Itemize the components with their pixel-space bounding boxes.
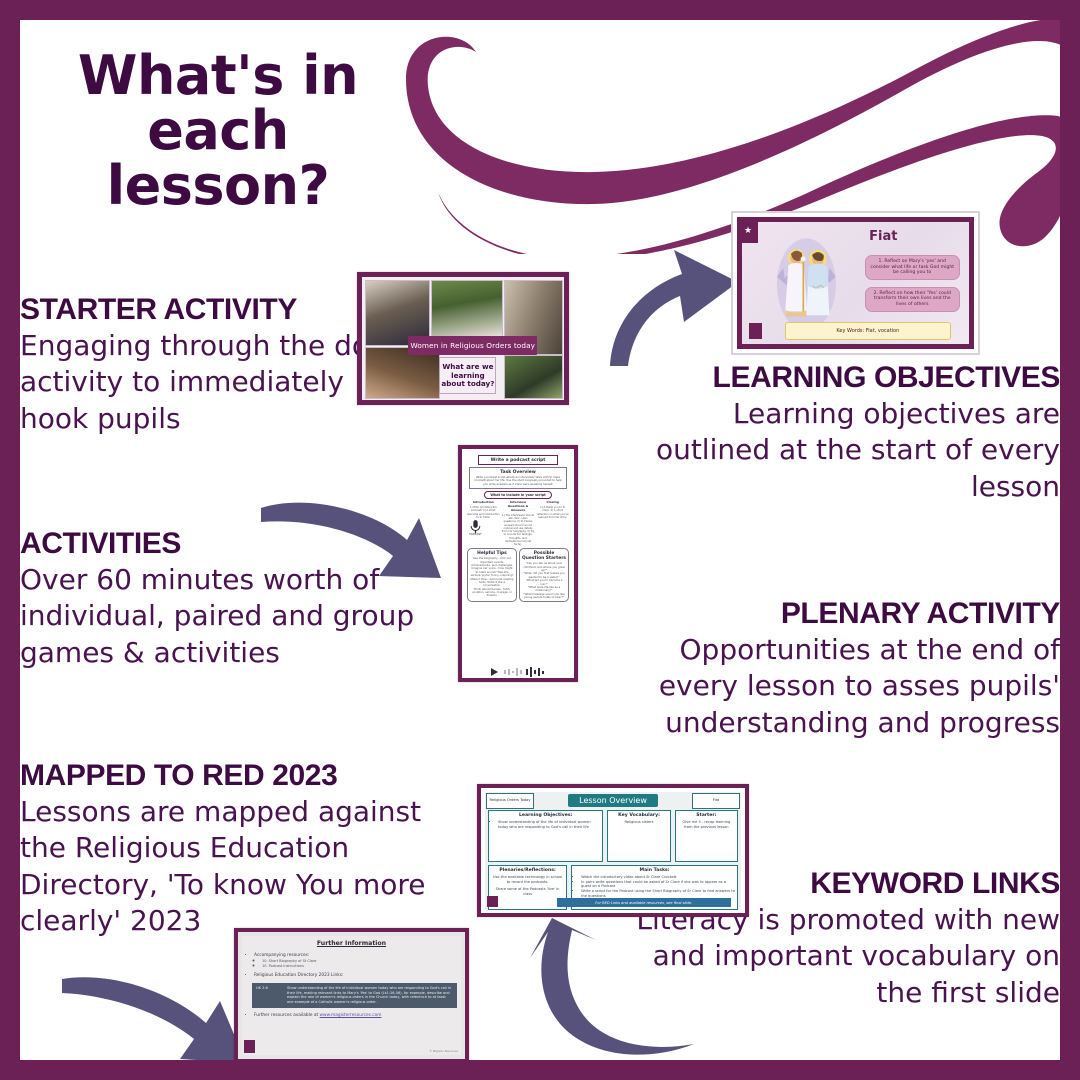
section-plenary-activity: PLENARY ACTIVITY Opportunities at the en… [600,598,1060,741]
closing-heading: Closing [536,501,569,505]
overview-tab-previous: Religious Orders Today [486,793,534,809]
closing-text: 1) A thank you to Sr Clare. 2) A short r… [537,506,569,519]
section-heading: LEARNING OBJECTIVES [640,362,1060,394]
questions-text: 1) The interviewer should ask clear, ope… [502,514,534,546]
red-links-label: Religious Education Directory 2023 Links… [254,973,457,979]
further-resources-label: Further resources available at [254,1013,320,1018]
closing-column: Closing 1) A thank you to Sr Clare. 2) A… [536,501,569,546]
starter-heading: Starter: [678,813,735,818]
infographic-poster: What's in each lesson? STARTER ACTIVITY … [0,0,1080,1080]
section-body: Opportunities at the end of every lesson… [600,632,1060,741]
accompanying-resources-list: Accompanying resources: 10. Short Biogra… [246,953,457,969]
questions-column: Interview Questions & Answers 1) The int… [502,501,535,546]
fiat-objective-2: 2. Reflect on how their 'Yes' could tran… [865,287,960,312]
slide-thumbnail-fiat[interactable]: ★ [733,213,978,353]
section-activities: ACTIVITIES Over 60 minutes worth of indi… [20,528,450,671]
photo-nuns-walking [431,280,504,338]
lesson-overview-body: Religious Orders Today Fiat Lesson Overv… [485,792,741,909]
further-resources-list: Further resources available at www.magis… [246,1013,457,1019]
main-task-3: Write a script for the Podcast using the… [581,889,735,898]
objectives-heading: Learning Objectives: [491,813,600,818]
further-information-body: Further Information Accompanying resourc… [242,936,461,1055]
page-title: What's in each lesson? [58,48,378,213]
slide-thumbnail-podcast-worksheet[interactable]: Write a podcast script Task Overview Wri… [458,445,578,682]
main-tasks-heading: Main Tasks: [574,868,735,873]
what-to-include-label: What to include in your script [484,491,552,499]
brand-badge [749,323,762,339]
section-body: Literacy is promoted with new and import… [600,902,1060,1011]
collage-banner-label: Women in Religious Orders today [408,336,537,355]
fiat-objective-1: 1. Reflect on Mary's 'yes' and consider … [865,255,960,280]
further-resources-line: Further resources available at www.magis… [254,1013,457,1019]
task-overview-text: Write a podcast script where an intervie… [472,476,565,486]
red-code: UK 2.6 [256,986,282,1005]
collage-question-label: What are we learning about today? [439,357,496,394]
starter-5: "What message would you like young peopl… [522,593,566,600]
question-starters-box: Possible Question Starters "Can you tell… [519,548,569,602]
vocab-text: Religious sisters [610,820,667,825]
starters-heading: Possible Question Starters [522,551,566,561]
plenary-text-1: Use the available technology in school t… [491,875,564,884]
brand-logo [487,896,498,907]
overview-objectives-card: Learning Objectives: Show understanding … [488,810,603,862]
brand-logo [244,1040,255,1053]
questions-heading: Interview Questions & Answers [502,501,535,513]
overview-footer-note: For RED Links and available resources, s… [557,898,731,907]
overview-plenary-card: Plenaries/Reflections: Use the available… [488,865,567,910]
objectives-text: Show understanding of the life of indivi… [498,820,600,829]
worksheet-three-columns: Introduction 1) Who is hosting the podca… [467,501,569,546]
worksheet-body: Write a podcast script Task Overview Wri… [465,455,571,678]
worksheet-footer-waveform [465,666,571,678]
red-links-list: Religious Education Directory 2023 Links… [246,973,457,979]
section-body: Over 60 minutes worth of individual, pai… [20,562,450,671]
worksheet-bottom-boxes: Helpful Tips Use the biography - pick ou… [467,548,569,602]
main-task-2: In pairs write questions that could be a… [581,880,735,889]
fiat-keywords-bar: Key Words: Fiat, vocation [785,322,950,340]
annunciation-illustration [753,232,860,334]
plenary-heading: Plenaries/Reflections: [491,868,564,873]
worksheet-title: Write a podcast script [478,455,558,465]
overview-tab-next: Fiat [692,793,740,809]
section-body: Learning objectives are outlined at the … [640,396,1060,505]
section-heading: MAPPED TO RED 2023 [20,760,460,792]
overview-starter-card: Starter: Give me 5 - recap learning from… [675,810,738,862]
slide-thumbnail-further-information[interactable]: Further Information Accompanying resourc… [234,928,469,1063]
starter-text: Give me 5 - recap learning from the prev… [678,820,735,829]
photo-collage: Women in Religious Orders today What are… [365,280,561,397]
intro-text: 1) Who is hosting the podcast? 2) A shor… [467,506,500,519]
section-heading: PLENARY ACTIVITY [600,598,1060,630]
red-description: Show understanding of the life of indivi… [287,986,453,1005]
plenary-text-2: Share some of the Podcasts 'live' in cla… [491,887,564,896]
overview-vocabulary-card: Key Vocabulary: Religious sisters [607,810,670,862]
tip-4: Think about themes - faith, vocation, se… [470,588,514,598]
photo-nuns-group [504,355,563,399]
resources-url-link[interactable]: www.magisterresources.com [320,1013,382,1018]
fiat-slide-body: ★ [742,222,969,344]
task-overview-box: Task Overview Write a podcast script whe… [469,467,568,489]
vocab-heading: Key Vocabulary: [610,813,667,818]
credit-text: © Magister Resources [429,1050,458,1053]
curved-arrow-right-icon [58,965,253,1070]
section-body: Lessons are mapped against the Religious… [20,794,460,940]
slide-thumbnail-lesson-overview[interactable]: Religious Orders Today Fiat Lesson Overv… [477,784,749,917]
section-mapped-to-red-2023: MAPPED TO RED 2023 Lessons are mapped ag… [20,760,460,939]
helpful-tips-box: Helpful Tips Use the biography - pick ou… [467,548,517,602]
slide-thumbnail-starter-activity[interactable]: Women in Religious Orders today What are… [357,272,569,405]
section-heading: ACTIVITIES [20,528,450,560]
fiat-title: Fiat [869,229,897,244]
red-link-row: UK 2.6 Show understanding of the life of… [252,983,457,1008]
overview-row-top: Learning Objectives: Show understanding … [488,810,738,862]
audio-waveform-icon [489,667,547,677]
resource-item-2: 10. Podcast instructions [262,964,457,969]
overview-title: Lesson Overview [568,794,658,807]
intro-heading: Introduction [467,501,500,505]
section-learning-objectives: LEARNING OBJECTIVES Learning objectives … [640,362,1060,505]
further-info-title: Further Information [246,940,457,947]
podcast-microphone-icon: PODCAST [469,519,482,535]
